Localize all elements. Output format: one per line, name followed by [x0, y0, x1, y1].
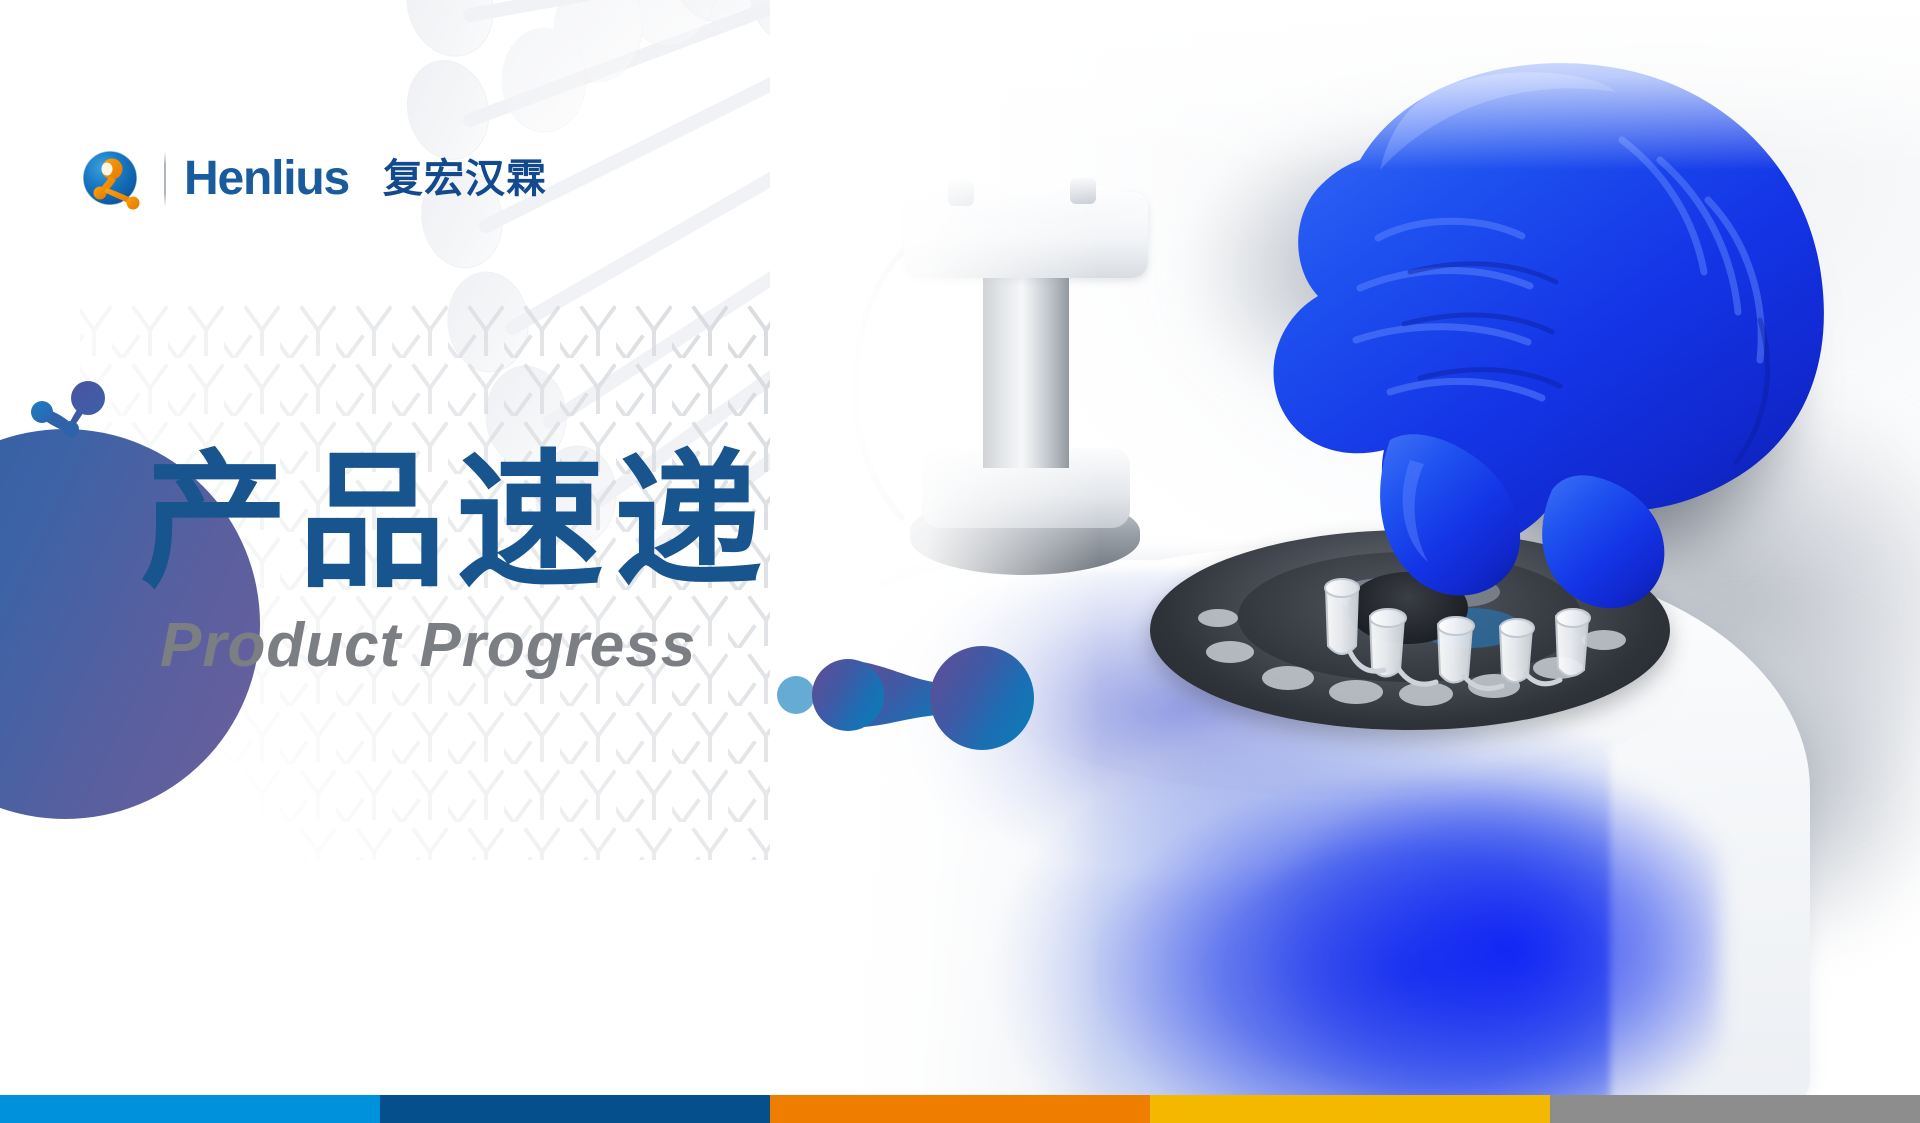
photo-top-fade	[770, 0, 1920, 170]
laboratory-centrifuge-photo	[770, 0, 1920, 1095]
molecule-icon-small	[22, 378, 114, 450]
bar-segment-gray	[1550, 1095, 1920, 1123]
page-subtitle-english: Product Progress	[160, 610, 772, 681]
logo-divider	[164, 151, 166, 207]
bar-segment-light-blue	[0, 1095, 380, 1123]
henlius-molecule-logo-icon	[80, 148, 142, 210]
page-title-chinese: 产品速递	[140, 445, 772, 600]
bottom-color-bar	[0, 1095, 1920, 1123]
title-block: 产品速递 Product Progress	[140, 445, 772, 681]
molecule-icon-mid	[760, 640, 1060, 750]
bar-segment-dark-blue	[380, 1095, 770, 1123]
bar-segment-orange	[770, 1095, 1150, 1123]
logo-chinese-name: 复宏汉霖	[383, 159, 547, 199]
bar-segment-yellow	[1150, 1095, 1550, 1123]
cover-slide: Henlius 复宏汉霖 产品速递 Product Progress	[0, 0, 1920, 1123]
henlius-logo[interactable]: Henlius 复宏汉霖	[80, 148, 547, 210]
logo-wordmark: Henlius	[184, 155, 349, 203]
